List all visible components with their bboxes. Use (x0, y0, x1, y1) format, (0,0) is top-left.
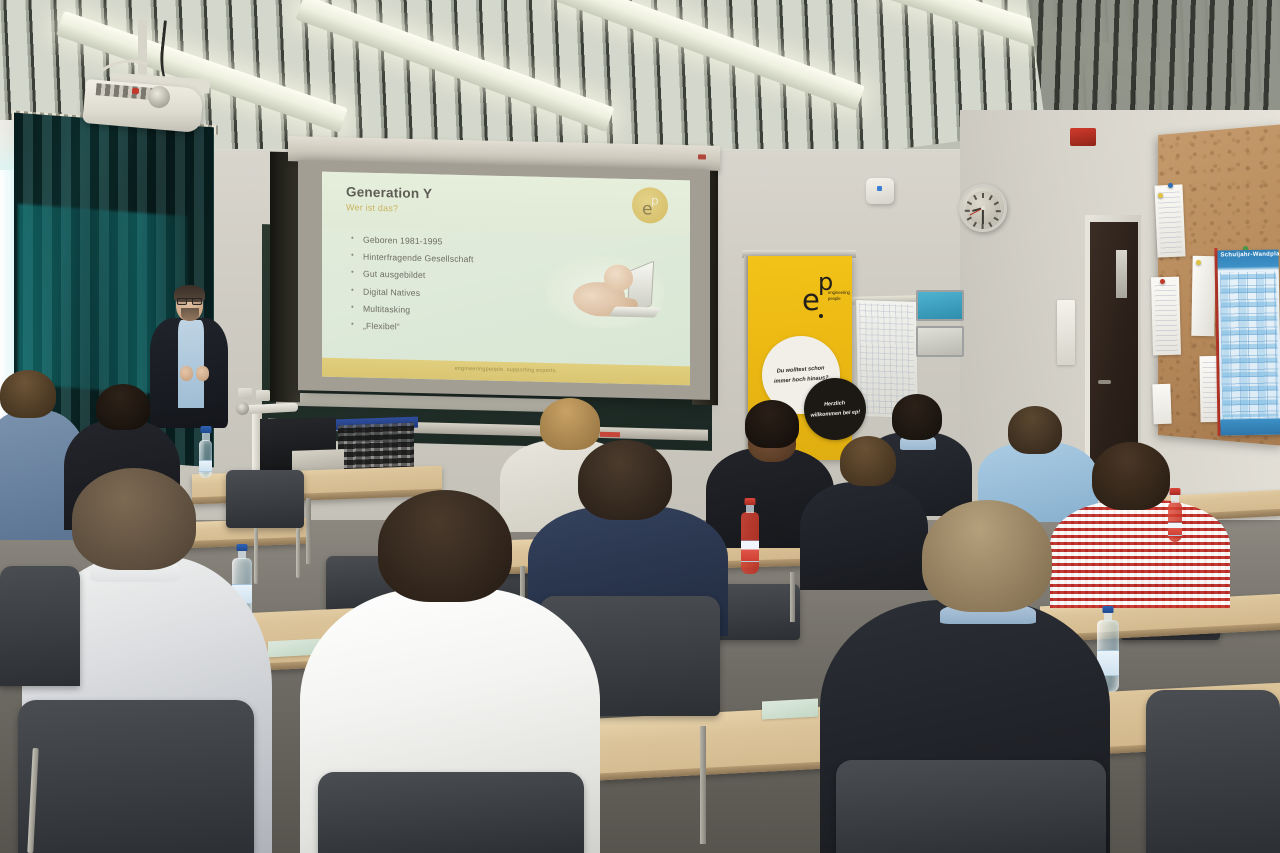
pushpin-icon (1196, 260, 1201, 265)
screen-side-shadow (270, 152, 300, 403)
attendee-hair (378, 490, 512, 602)
ep-logo-icon: e p (632, 187, 668, 224)
slide-footer-text: engineeringpeople. supporting experts. (455, 366, 558, 374)
presenter-glasses-icon (177, 298, 187, 305)
fire-alarm-icon (1070, 128, 1096, 146)
pinned-paper (1191, 256, 1215, 336)
presenter-hand (196, 366, 209, 381)
chair[interactable] (0, 566, 80, 686)
attendee-body (800, 482, 928, 590)
laptop-base-shape (609, 307, 661, 318)
clock-tick (973, 222, 977, 227)
pinned-paper (1152, 384, 1171, 425)
clock-tick (994, 217, 999, 221)
paper-lines (1154, 281, 1178, 352)
pushpin-icon (1168, 183, 1173, 188)
clock-tick (982, 193, 984, 198)
soft-drink-bottle[interactable] (1168, 502, 1182, 542)
door-window (1116, 250, 1127, 298)
chair[interactable] (226, 470, 304, 528)
bottle-cap (200, 426, 211, 433)
banner-logo-subtitle: engineeringpeople (828, 290, 850, 303)
attendee-hair (1092, 442, 1170, 510)
list-item: Multitasking (350, 303, 540, 317)
attendee-body (1050, 500, 1230, 608)
bottle-label (199, 460, 212, 472)
list-item: Gut ausgebildet (350, 269, 540, 283)
clock-tick (965, 210, 970, 212)
bottle-label (1168, 522, 1182, 536)
wall-clock (959, 184, 1007, 232)
bottle-cap (745, 498, 756, 505)
attendee-hair (540, 398, 600, 450)
calendar-grid (1220, 272, 1280, 420)
calendar-title: Schuljahr-Wandplaner (1220, 251, 1280, 258)
slide-subtitle: Wer ist das? (346, 202, 398, 213)
banner-logo-dot (819, 314, 823, 318)
presenter-beard (181, 308, 199, 321)
wall-notice-blue (916, 290, 964, 321)
baby-with-laptop-image (546, 255, 664, 330)
chair-leg (296, 528, 300, 578)
smoke-detector-icon (866, 178, 894, 204)
clock-tick (982, 224, 984, 229)
school-year-calendar-poster: Schuljahr-Wandplaner (1217, 249, 1280, 435)
attendee-hair (0, 370, 56, 418)
clock-tick (989, 222, 993, 227)
presenter-shirt (178, 320, 204, 408)
attendee-hair (72, 468, 196, 570)
banner-logo-letter-e: e (802, 286, 820, 315)
projector-power-led (132, 88, 139, 95)
clock-tick (994, 201, 999, 205)
presentation-slide: Generation Y Wer ist das? e p Geboren 19… (322, 172, 690, 386)
screen-housing-label (698, 154, 706, 159)
clock-tick (967, 217, 972, 221)
wall-notice-grey (916, 326, 964, 357)
clock-tick (973, 195, 977, 200)
slide-title: Generation Y (346, 184, 432, 201)
list-item: Geboren 1981-1995 (350, 234, 540, 248)
attendee-hair (1008, 406, 1062, 454)
chair[interactable] (318, 772, 584, 853)
attendee-hair (892, 394, 942, 440)
clock-tick (996, 210, 1001, 212)
chair[interactable] (1146, 690, 1280, 853)
clock-center-pin (981, 206, 985, 210)
attendee-hair (578, 440, 672, 520)
room-door[interactable] (1090, 222, 1138, 467)
baby-head-shape (604, 264, 633, 291)
bottle-label (741, 540, 759, 562)
door-handle[interactable] (1098, 380, 1111, 384)
banner-speech-bubble-black: Herzlich willkommen bei ep! (804, 378, 866, 440)
slide-bullet-list: Geboren 1981-1995 Hinterfragende Gesells… (350, 234, 540, 342)
paper-lines (1158, 189, 1183, 254)
attendee-hair (96, 384, 150, 430)
clock-face (966, 191, 1000, 225)
logo-letter-p: p (651, 193, 659, 207)
paper-sheet (762, 699, 818, 720)
table-leg (700, 726, 706, 844)
pushpin-icon (1158, 193, 1163, 198)
bottle-body (199, 440, 212, 478)
light-switch-panel[interactable] (1057, 300, 1075, 365)
attendee-hair (745, 400, 799, 448)
list-item: „Flexibel“ (350, 320, 540, 334)
attendee-hair (840, 436, 896, 486)
camera-lens-icon (236, 402, 249, 415)
list-item: Hinterfragende Gesellschaft (350, 252, 540, 266)
table-leg (790, 572, 795, 622)
document-camera-column (252, 412, 260, 474)
storage-crate (338, 423, 414, 474)
bottle-cap (237, 544, 248, 551)
chalk-marker[interactable] (600, 432, 620, 437)
clock-tick (989, 195, 993, 200)
pinned-paper (1151, 277, 1181, 356)
banner-bubble-black-text: Herzlich willkommen bei ep! (803, 397, 866, 422)
pushpin-icon (1160, 279, 1165, 284)
presenter-hand (180, 366, 193, 381)
chair[interactable] (18, 700, 254, 853)
soft-drink-bottle[interactable] (741, 512, 759, 574)
bottle-cap (1103, 606, 1114, 613)
wall-outlet[interactable] (256, 390, 270, 401)
table-leg (306, 498, 311, 564)
water-bottle[interactable] (199, 440, 212, 478)
seminar-room-photo: Generation Y Wer ist das? e p Geboren 19… (0, 0, 1280, 853)
sensor-led (877, 186, 882, 191)
clock-tick (967, 201, 972, 205)
chair-leg (254, 528, 258, 584)
clock-minute-hand (982, 208, 984, 224)
presenter-glasses-icon (192, 298, 202, 305)
wall-outlet[interactable] (238, 388, 252, 399)
chair[interactable] (836, 760, 1106, 853)
calendar-footer (1220, 418, 1280, 435)
list-item: Digital Natives (350, 286, 540, 300)
bottle-cap (1170, 488, 1181, 495)
attendee-hair (922, 500, 1052, 612)
